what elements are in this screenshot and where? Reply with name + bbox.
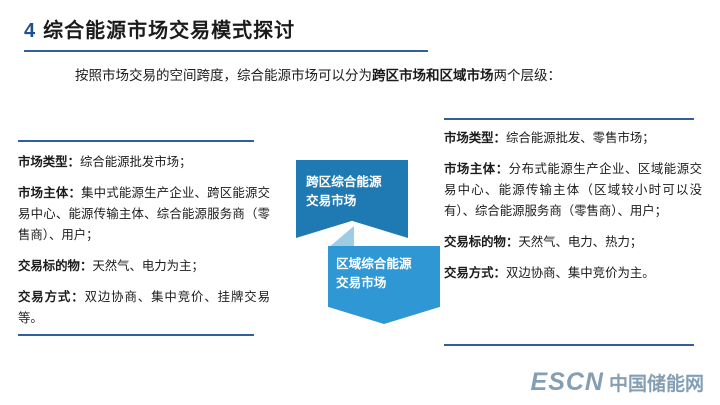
shape-cross-region-market-text: 跨区综合能源 交易市场 <box>296 160 408 211</box>
shape-cross-region-market-line1: 跨区综合能源 <box>306 173 408 192</box>
intro-paragraph: 按照市场交易的空间跨度，综合能源市场可以分为跨区市场和区域市场两个层级： <box>48 64 668 88</box>
left-column-divider-bottom <box>18 334 254 336</box>
intro-emphasis: 跨区市场和区域市场 <box>372 68 494 83</box>
intro-part2: 两个层级： <box>494 68 562 83</box>
left-column-divider-top <box>18 140 254 142</box>
right-item-3-value: 双边协商、集中竞价为主。 <box>506 266 655 280</box>
left-item-2-value: 天然气、电力为主； <box>92 259 204 273</box>
right-item-2: 交易标的物：天然气、电力、热力； <box>444 232 702 253</box>
shape-regional-market-line1: 区域综合能源 <box>336 255 440 274</box>
watermark-suffix: 中国储能网 <box>609 369 704 396</box>
left-item-0-value: 综合能源批发市场； <box>80 155 192 169</box>
right-item-1: 市场主体：分布式能源生产企业、区域能源交易中心、能源传输主体（区域较小时可以没有… <box>444 159 702 222</box>
right-column-divider-bottom <box>444 344 694 346</box>
left-item-2: 交易标的物：天然气、电力为主； <box>18 256 270 277</box>
right-item-0-label: 市场类型： <box>444 131 506 145</box>
left-item-3-label: 交易方式： <box>18 290 85 304</box>
intro-part1: 按照市场交易的空间跨度，综合能源市场可以分为 <box>75 68 372 83</box>
right-item-1-label: 市场主体： <box>444 162 509 176</box>
left-item-3: 交易方式：双边协商、集中竞价、挂牌交易等。 <box>18 287 270 329</box>
right-item-2-label: 交易标的物： <box>444 235 518 249</box>
left-item-2-label: 交易标的物： <box>18 259 92 273</box>
market-hierarchy-diagram: 跨区综合能源 交易市场 区域综合能源 交易市场 <box>284 160 444 330</box>
page-title: 4 综合能源市场交易模式探讨 <box>24 14 444 52</box>
shape-regional-market-text: 区域综合能源 交易市场 <box>328 246 440 293</box>
title-text: 综合能源市场交易模式探讨 <box>43 14 295 43</box>
left-item-0-label: 市场类型： <box>18 155 80 169</box>
shape-cross-region-market: 跨区综合能源 交易市场 <box>296 160 408 238</box>
left-column: 市场类型：综合能源批发市场； 市场主体：集中式能源生产企业、跨区能源交易中心、能… <box>18 140 270 329</box>
shape-regional-market-line2: 交易市场 <box>336 274 440 293</box>
right-column: 市场类型：综合能源批发、零售市场； 市场主体：分布式能源生产企业、区域能源交易中… <box>444 128 702 284</box>
left-item-1: 市场主体：集中式能源生产企业、跨区能源交易中心、能源传输主体、综合能源服务商（零… <box>18 183 270 246</box>
shape-fold-decoration <box>328 226 354 248</box>
title-divider <box>24 50 428 52</box>
watermark-brand: ESCN <box>531 368 604 397</box>
left-item-0: 市场类型：综合能源批发市场； <box>18 152 270 173</box>
title-number: 4 <box>24 20 35 43</box>
watermark: ESCN 中国储能网 <box>531 368 704 397</box>
right-column-divider-top <box>444 118 694 120</box>
title-row: 4 综合能源市场交易模式探讨 <box>24 14 444 43</box>
left-item-1-label: 市场主体： <box>18 186 81 200</box>
right-item-3-label: 交易方式： <box>444 266 506 280</box>
shape-cross-region-market-line2: 交易市场 <box>306 192 408 211</box>
right-item-0-value: 综合能源批发、零售市场； <box>506 131 655 145</box>
slide-root: 4 综合能源市场交易模式探讨 按照市场交易的空间跨度，综合能源市场可以分为跨区市… <box>0 0 720 405</box>
right-item-0: 市场类型：综合能源批发、零售市场； <box>444 128 702 149</box>
right-item-2-value: 天然气、电力、热力； <box>518 235 642 249</box>
shape-regional-market: 区域综合能源 交易市场 <box>328 246 440 324</box>
right-item-3: 交易方式：双边协商、集中竞价为主。 <box>444 263 702 284</box>
